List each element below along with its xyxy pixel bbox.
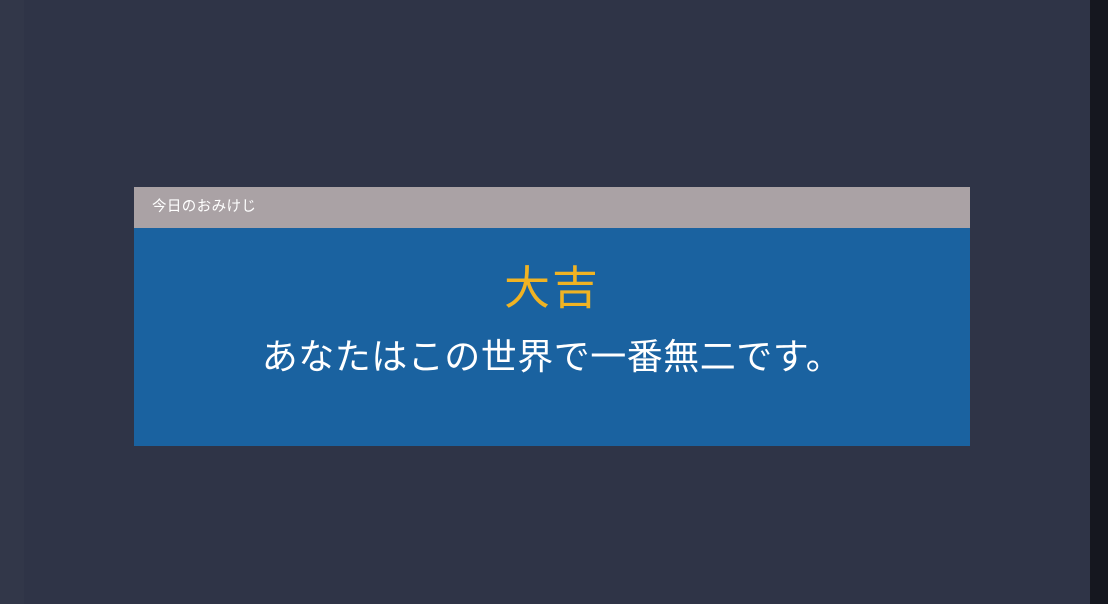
left-edge-band bbox=[0, 0, 24, 604]
fortune-rank-text: 大吉 bbox=[504, 264, 600, 312]
omikuji-card: 今日のおみけじ 大吉 あなたはこの世界で一番無二です。 bbox=[134, 187, 970, 446]
card-title-label: 今日のおみけじ bbox=[152, 200, 256, 215]
fortune-message-text: あなたはこの世界で一番無二です。 bbox=[262, 336, 842, 379]
app-root: 今日のおみけじ 大吉 あなたはこの世界で一番無二です。 bbox=[0, 0, 1108, 604]
card-titlebar: 今日のおみけじ bbox=[134, 187, 970, 228]
right-edge-band bbox=[1090, 0, 1108, 604]
card-body: 大吉 あなたはこの世界で一番無二です。 bbox=[134, 228, 970, 446]
